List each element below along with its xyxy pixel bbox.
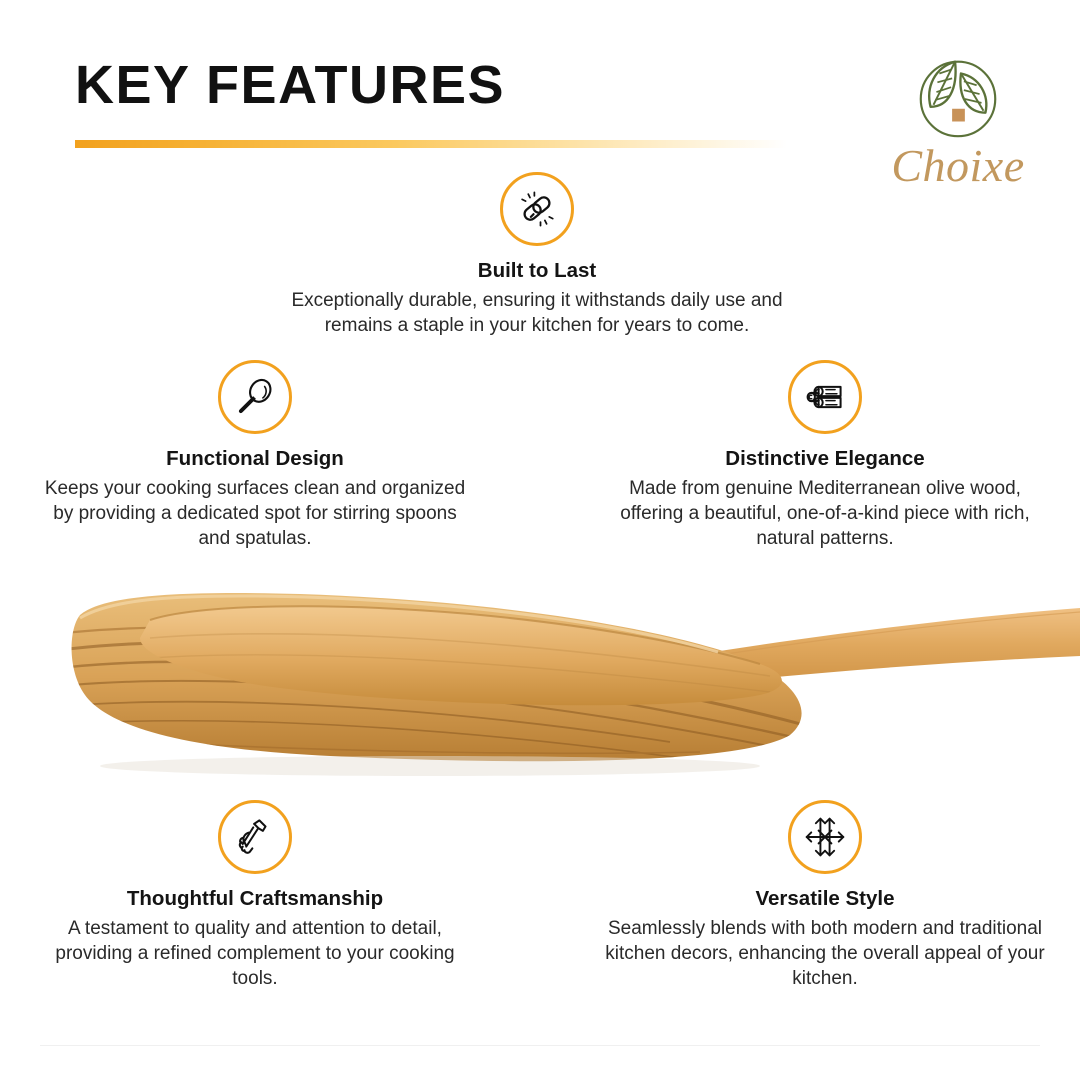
feature-title: Versatile Style [605,887,1045,912]
feature-title: Functional Design [35,447,475,472]
wood-logs-icon [803,375,847,419]
chain-link-icon-circle [500,172,574,246]
multi-direction-arrows-icon [803,815,847,859]
feature-built-to-last: Built to Last Exceptionally durable, ens… [287,172,787,338]
feature-title: Distinctive Elegance [605,447,1045,472]
feature-versatile-style: Versatile Style Seamlessly blends with b… [605,800,1045,991]
feature-functional-design: Functional Design Keeps your cooking sur… [35,360,475,551]
feature-thoughtful-craftsmanship: Thoughtful Craftsmanship A testament to … [35,800,475,991]
product-image [0,560,1080,820]
leaf-circle-logo-icon [909,48,1007,146]
hand-hammer-icon-circle [218,800,292,874]
title-divider [75,140,787,148]
feature-title: Built to Last [287,259,787,284]
brand-wordmark: Choixe [878,142,1038,190]
multi-direction-arrows-icon-circle [788,800,862,874]
spoon-icon [234,376,276,418]
chain-link-icon [516,188,558,230]
footer-divider [40,1045,1040,1046]
brand-logo: Choixe [878,48,1038,190]
feature-description: A testament to quality and attention to … [35,916,475,991]
wood-logs-icon-circle [788,360,862,434]
hand-hammer-icon [234,816,276,858]
feature-distinctive-elegance: Distinctive Elegance Made from genuine M… [605,360,1045,551]
page-title: KEY FEATURES [75,58,505,112]
spoon-icon-circle [218,360,292,434]
feature-description: Exceptionally durable, ensuring it withs… [287,288,787,338]
feature-title: Thoughtful Craftsmanship [35,887,475,912]
feature-description: Made from genuine Mediterranean olive wo… [605,476,1045,551]
feature-description: Keeps your cooking surfaces clean and or… [35,476,475,551]
feature-description: Seamlessly blends with both modern and t… [605,916,1045,991]
